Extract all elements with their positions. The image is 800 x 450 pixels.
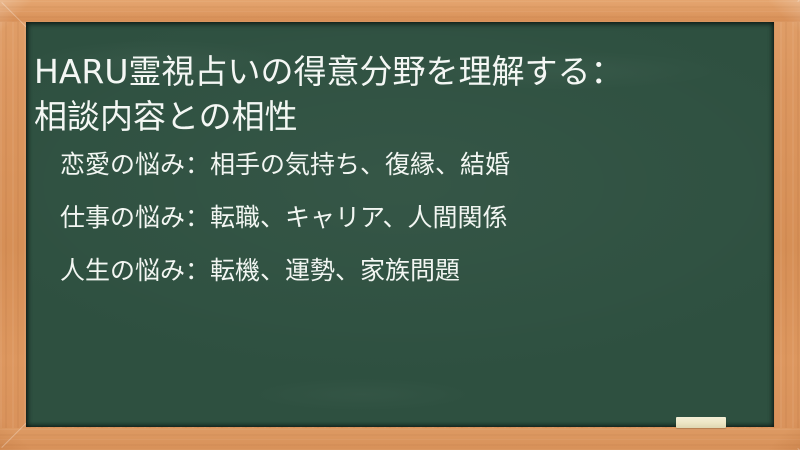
slide-canvas: HARU霊視占いの得意分野を理解する： 相談内容との相性 恋愛の悩み：相手の気持… [0, 0, 800, 450]
list-item: 仕事の悩み：転職、キャリア、人間関係 [60, 205, 760, 231]
frame-rail-top [0, 0, 800, 22]
list-item: 恋愛の悩み：相手の気持ち、復縁、結婚 [60, 152, 760, 178]
topic-list: 恋愛の悩み：相手の気持ち、復縁、結婚 仕事の悩み：転職、キャリア、人間関係 人生… [60, 152, 760, 284]
chalkboard: HARU霊視占いの得意分野を理解する： 相談内容との相性 恋愛の悩み：相手の気持… [26, 22, 774, 427]
chalk-stick-icon [676, 417, 726, 428]
list-item: 人生の悩み：転機、運勢、家族問題 [60, 258, 760, 284]
slide-title: HARU霊視占いの得意分野を理解する： 相談内容との相性 [34, 49, 769, 139]
frame-rail-bottom [0, 428, 800, 450]
